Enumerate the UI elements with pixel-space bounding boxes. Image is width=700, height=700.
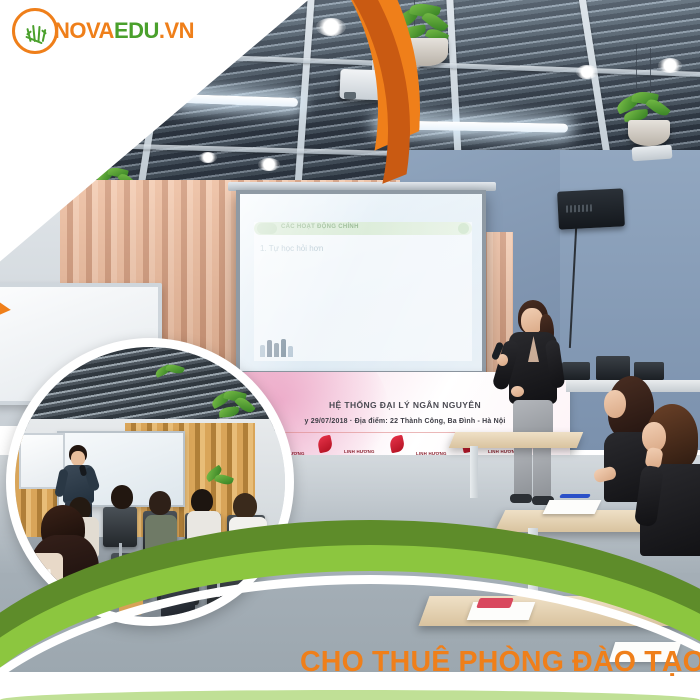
attendee <box>636 404 700 584</box>
inset-audience-head <box>149 491 171 515</box>
desk <box>449 432 583 448</box>
sponsor-leaf-icon <box>316 435 333 454</box>
notebook <box>543 500 602 514</box>
inset-audience-head <box>233 493 257 519</box>
presenter-leg <box>533 442 551 498</box>
ceiling-downlight <box>658 58 682 73</box>
plant-pot <box>628 120 670 146</box>
poster-canvas: CÁC HOẠT ĐỘNG CHÍNH 1. Tự học hỏi hơn <box>0 0 700 700</box>
inset-speaker-face <box>71 451 85 466</box>
logo-wordmark: NOVAEDU.VN <box>54 18 194 44</box>
sponsor-name: LINH HƯƠNG <box>344 449 375 454</box>
speaker-grill <box>566 204 592 212</box>
ceiling-downlight <box>576 65 598 79</box>
presenter-shoe <box>510 494 532 503</box>
desk-leg <box>470 446 478 498</box>
presenter-leg <box>514 442 532 498</box>
logo-vn-text: .VN <box>159 18 194 43</box>
inset-audience-head <box>191 489 213 513</box>
caption-text: CHO THUÊ PHÒNG ĐÀO TẠO <box>300 646 692 679</box>
presenter-hand <box>511 386 524 397</box>
attendee-face <box>604 390 626 418</box>
logo-nova-text: NOVA <box>54 18 114 43</box>
air-conditioner <box>632 145 673 162</box>
sponsor-leaf-icon <box>388 435 405 454</box>
brand-logo[interactable]: NOVAEDU.VN <box>12 8 194 54</box>
pen <box>559 494 591 498</box>
logo-ring-icon <box>12 8 58 54</box>
plant-sprout-icon <box>24 22 50 46</box>
presenter <box>496 300 576 510</box>
logo-edu-text: EDU <box>114 18 159 43</box>
